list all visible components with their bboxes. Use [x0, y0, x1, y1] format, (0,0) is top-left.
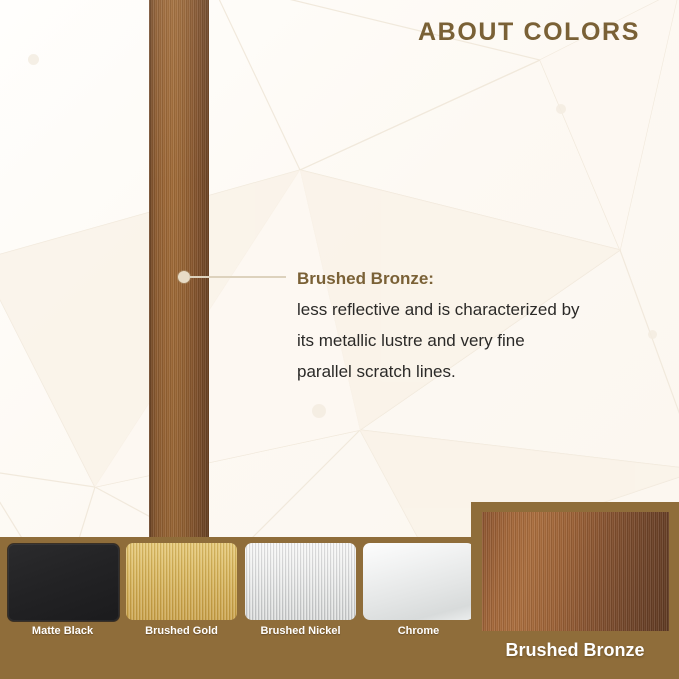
description-line-3: parallel scratch lines.	[297, 356, 647, 387]
swatch-matte-black[interactable]	[7, 543, 120, 622]
background-dot	[312, 404, 326, 418]
vertical-bronze-finish-bar	[149, 0, 209, 537]
swatch-brushed-gold[interactable]	[126, 543, 237, 620]
background-dot	[648, 330, 657, 339]
swatch-label-matte-black: Matte Black	[7, 625, 118, 637]
about-colors-infographic: ABOUT COLORS Brushed Bronze: less reflec…	[0, 0, 679, 679]
description-line-1: less reflective and is characterized by	[297, 294, 647, 325]
swatch-label-brushed-nickel: Brushed Nickel	[245, 625, 356, 637]
description-block: Brushed Bronze: less reflective and is c…	[297, 264, 647, 387]
swatch-brushed-bronze[interactable]	[482, 512, 669, 631]
swatch-brushed-nickel[interactable]	[245, 543, 356, 620]
swatch-chrome[interactable]	[363, 543, 474, 620]
swatch-label-brushed-gold: Brushed Gold	[126, 625, 237, 637]
description-line-2: its metallic lustre and very fine	[297, 325, 647, 356]
swatch-label-chrome: Chrome	[363, 625, 474, 637]
callout-line	[189, 276, 286, 278]
description-heading: Brushed Bronze:	[297, 264, 647, 294]
background-dot	[28, 54, 39, 65]
background-dot	[556, 104, 566, 114]
swatch-label-brushed-bronze: Brushed Bronze	[471, 640, 679, 661]
page-title: ABOUT COLORS	[418, 18, 640, 47]
